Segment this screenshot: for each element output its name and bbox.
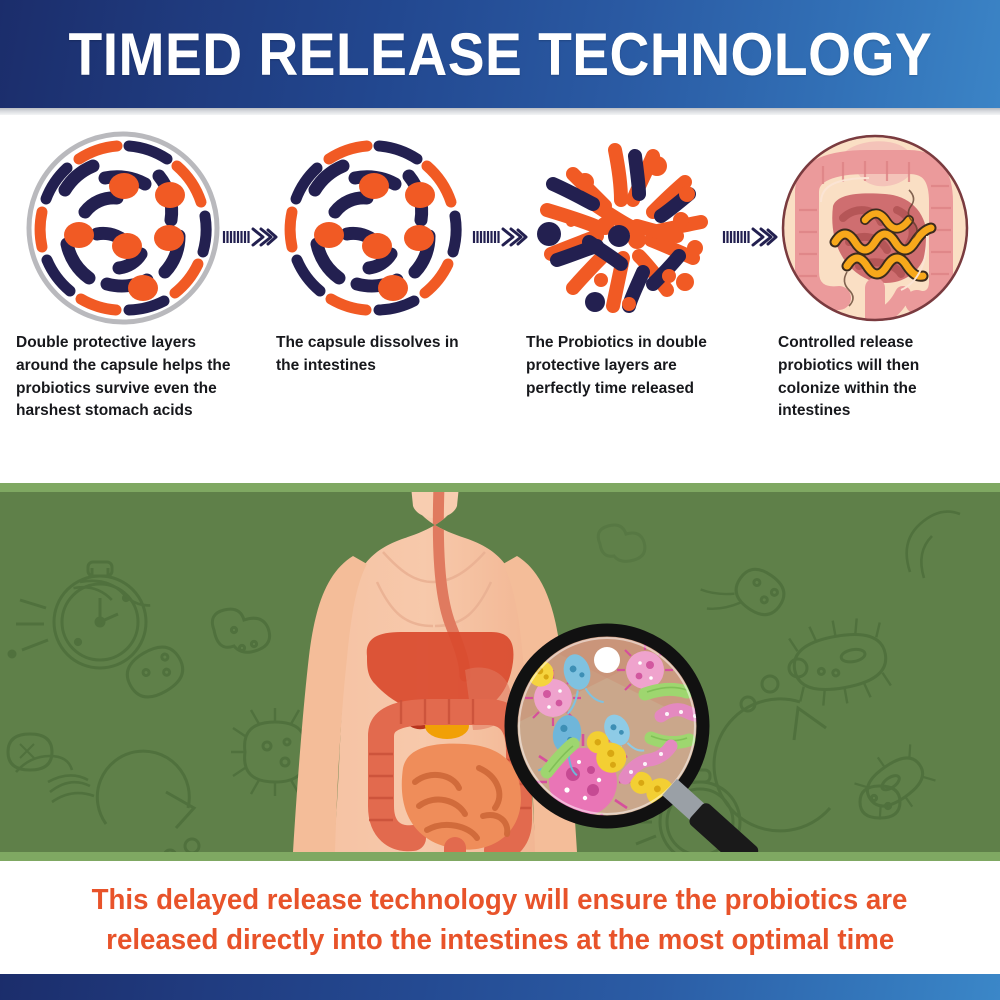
probiotics-released-icon [523, 130, 727, 326]
step-1-illustration [0, 128, 250, 328]
footer-bar [0, 974, 1000, 1000]
footer-line-1: This delayed release technology will ens… [92, 880, 908, 920]
footer-message: This delayed release technology will ens… [0, 866, 1000, 974]
step-3-illustration [500, 128, 750, 328]
refresh-arrow-icon [97, 751, 199, 852]
step-2-illustration [250, 128, 500, 328]
step-4-illustration [750, 128, 1000, 328]
header-shadow-divider [0, 108, 1000, 115]
flagellated-bacteria-icon [16, 756, 94, 802]
step-1-caption: Double protective layers around the caps… [16, 332, 242, 423]
green-panel-top-strip [0, 483, 1000, 492]
capsule-double-layer-icon [19, 128, 231, 328]
infographic-page: TIMED RELEASE TECHNOLOGY [0, 0, 1000, 1000]
human-torso-digestive-system [215, 492, 795, 852]
step-4-caption: Controlled release probiotics will then … [778, 332, 978, 423]
illustration-panel [0, 492, 1000, 852]
footer-line-2: released directly into the intestines at… [106, 920, 894, 960]
step-2-caption: The capsule dissolves in the intestines [276, 332, 486, 378]
stopwatch-icon [9, 562, 146, 668]
page-title: TIMED RELEASE TECHNOLOGY [68, 20, 932, 89]
step-4: Controlled release probiotics will then … [750, 120, 1000, 480]
steps-row: Double protective layers around the caps… [0, 120, 1000, 480]
step-1: Double protective layers around the caps… [0, 120, 250, 480]
step-2: The capsule dissolves in the intestines [250, 120, 500, 480]
header-banner: TIMED RELEASE TECHNOLOGY [0, 0, 1000, 108]
capsule-dissolving-icon [275, 130, 475, 326]
microbe-icon [120, 639, 190, 705]
intestines-colonized-icon [777, 132, 973, 324]
green-panel-bottom-strip [0, 852, 1000, 861]
step-3: The Probiotics in double protective laye… [500, 120, 750, 480]
microbe-icon [8, 734, 52, 770]
flagellated-bacteria-icon [907, 512, 960, 578]
step-3-caption: The Probiotics in double protective laye… [526, 332, 726, 400]
